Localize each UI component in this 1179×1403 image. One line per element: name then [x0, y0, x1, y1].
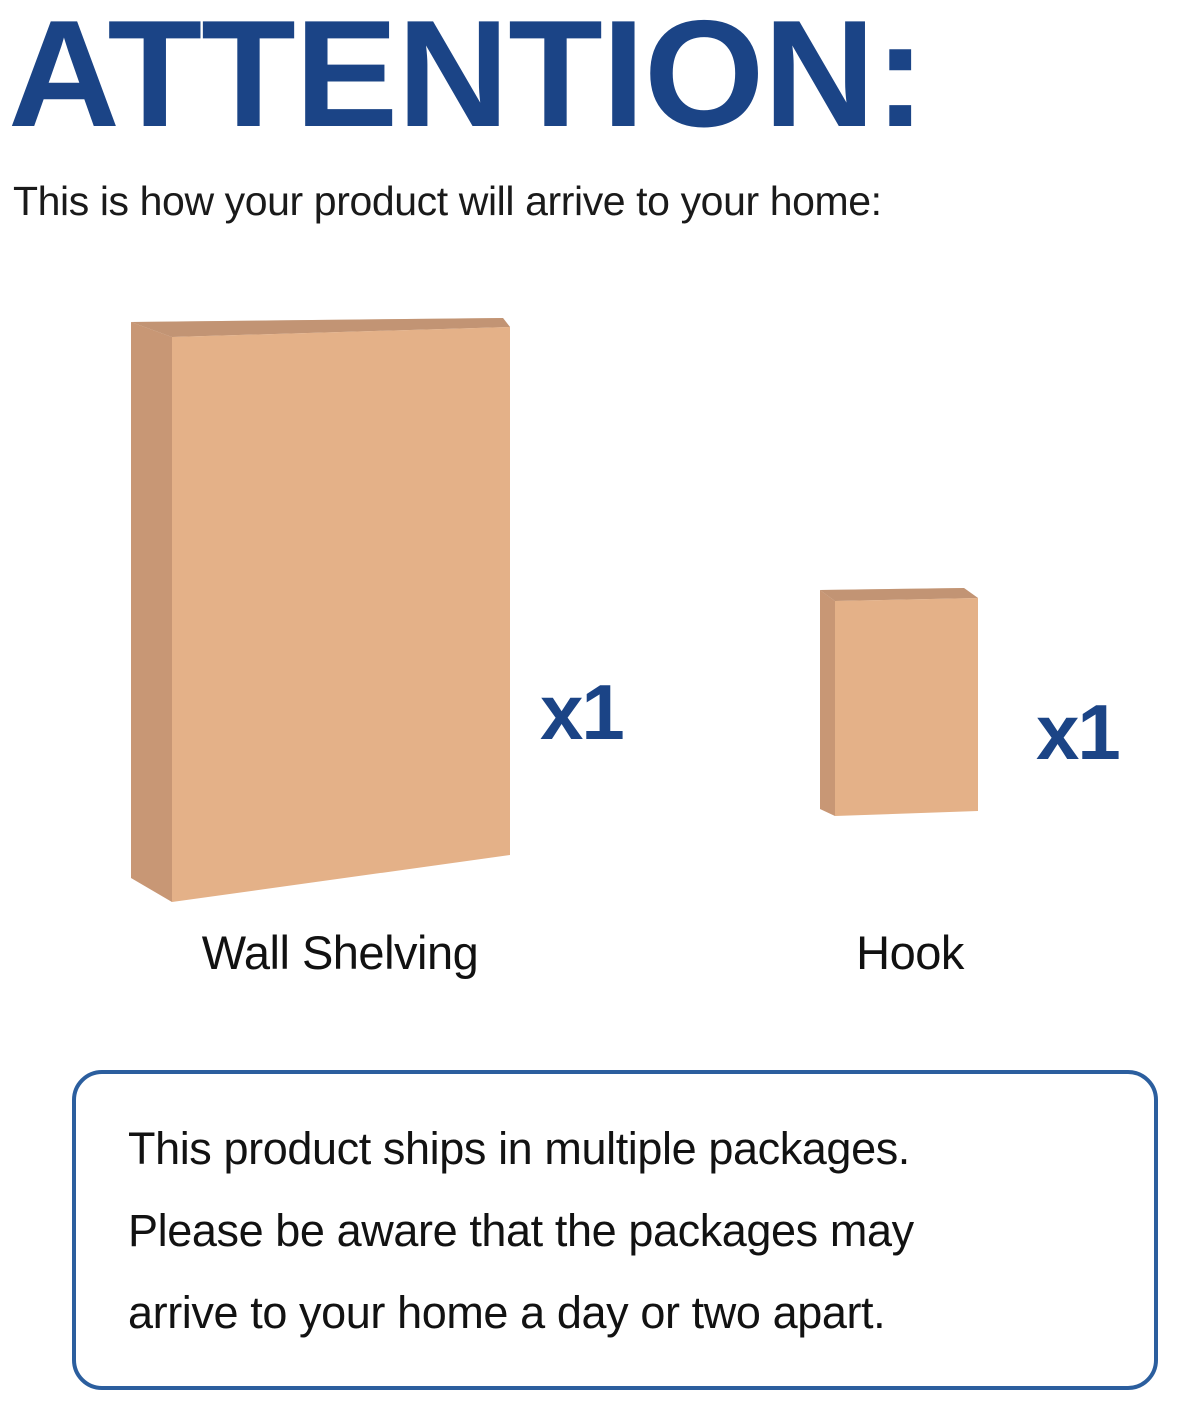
shipping-notice-line-2: Please be aware that the packages may [128, 1190, 1118, 1272]
quantity-badge-wall-shelving: x1 [540, 673, 623, 751]
quantity-badge-hook: x1 [1036, 693, 1119, 771]
packages-area: x1 Wall Shelving x1 Hook [0, 0, 1179, 1030]
package-label-wall-shelving: Wall Shelving [60, 925, 620, 980]
package-illustration-wall-shelving [118, 305, 528, 920]
box-side-face [820, 590, 835, 816]
shipping-notice-callout: This product ships in multiple packages.… [72, 1070, 1158, 1390]
box-side-face [131, 322, 172, 902]
shipping-notice-text: This product ships in multiple packages.… [128, 1108, 1118, 1354]
package-label-hook: Hook [710, 925, 1110, 980]
shipping-notice-line-1: This product ships in multiple packages. [128, 1108, 1118, 1190]
box-front-face [835, 598, 978, 816]
box-front-face [172, 327, 510, 902]
shipping-attention-graphic: ATTENTION: This is how your product will… [0, 0, 1179, 1403]
shipping-notice-line-3: arrive to your home a day or two apart. [128, 1272, 1118, 1354]
package-illustration-hook [808, 575, 993, 830]
